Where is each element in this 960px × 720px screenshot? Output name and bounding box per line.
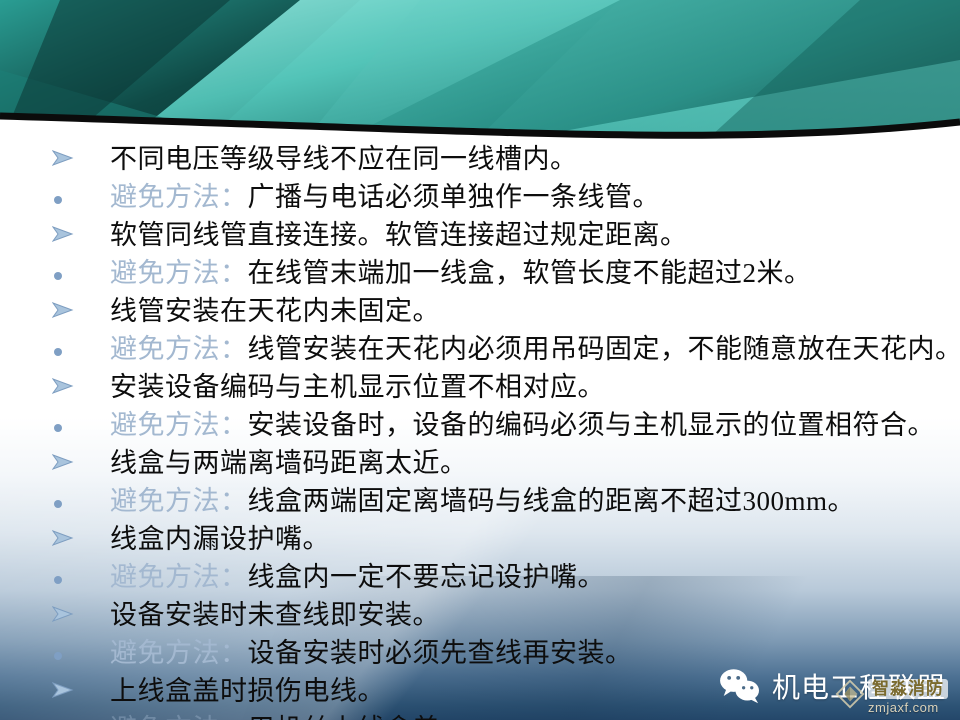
list-item: 避免方法：安装设备时，设备的编码必须与主机显示的位置相符合。 [0,406,960,444]
slide-header-banner [0,0,960,146]
watermark-block: 智淼消防 zmjaxf.com [835,679,948,714]
body-text: 线盒内漏设护嘴。 [110,524,330,554]
diamond-logo-icon [835,679,865,709]
arrow-bullet-icon [52,674,110,698]
dot-bullet-icon [52,260,110,284]
body-text: 安装设备时，设备的编码必须与主机显示的位置相符合。 [248,410,936,440]
body-text: 上线盒盖时损伤电线。 [110,676,385,706]
lead-label: 避免方法： [110,334,248,364]
list-item-text: 设备安装时未查线即安装。 [110,596,440,634]
header-abstract-graphic [0,0,960,146]
list-item: 避免方法：用机丝上线盒盖。 [0,710,960,720]
presentation-slide: 不同电压等级导线不应在同一线槽内。 避免方法：广播与电话必须单独作一条线管。 软… [0,0,960,720]
watermark-url: zmjaxf.com [868,701,948,714]
body-text: 不同电压等级导线不应在同一线槽内。 [110,144,578,174]
list-item: 避免方法：线管安装在天花内必须用吊码固定，不能随意放在天花内。 [0,330,960,368]
list-item-text: 避免方法：线盒内一定不要忘记设护嘴。 [110,558,605,596]
dot-bullet-icon [52,640,110,664]
dot-bullet-icon [52,336,110,360]
list-item-text: 线盒与两端离墙码距离太近。 [110,444,468,482]
body-text: 线盒与两端离墙码距离太近。 [110,448,468,478]
arrow-bullet-icon [52,294,110,318]
list-item-text: 避免方法：在线管末端加一线盒，软管长度不能超过2米。 [110,254,812,292]
list-item: 设备安装时未查线即安装。 [0,596,960,634]
list-item: 线管安装在天花内未固定。 [0,292,960,330]
body-text: 软管同线管直接连接。软管连接超过规定距离。 [110,220,688,250]
list-item-text: 避免方法：线盒两端固定离墙码与线盒的距离不超过300mm。 [110,482,855,520]
lead-label: 避免方法： [110,714,248,720]
arrow-bullet-icon [52,142,110,166]
list-item: 避免方法：线盒两端固定离墙码与线盒的距离不超过300mm。 [0,482,960,520]
dot-bullet-icon [52,564,110,588]
body-text: 设备安装时未查线即安装。 [110,600,440,630]
arrow-bullet-icon [52,370,110,394]
body-text: 线管安装在天花内必须用吊码固定，不能随意放在天花内。 [248,334,960,364]
wechat-icon [718,667,762,705]
arrow-bullet-icon [52,598,110,622]
watermark-title: 智淼消防 [868,679,948,699]
watermark-text: 智淼消防 zmjaxf.com [868,679,948,714]
list-item-text: 线盒内漏设护嘴。 [110,520,330,558]
lead-label: 避免方法： [110,182,248,212]
dot-bullet-icon [52,184,110,208]
arrow-bullet-icon [52,218,110,242]
list-item: 线盒与两端离墙码距离太近。 [0,444,960,482]
list-item-text: 避免方法：广播与电话必须单独作一条线管。 [110,178,660,216]
arrow-bullet-icon [52,522,110,546]
lead-label: 避免方法： [110,638,248,668]
dot-bullet-icon [52,716,110,720]
lead-label: 避免方法： [110,258,248,288]
list-item-text: 避免方法：安装设备时，设备的编码必须与主机显示的位置相符合。 [110,406,935,444]
list-item: 避免方法：广播与电话必须单独作一条线管。 [0,178,960,216]
slide-body-content: 不同电压等级导线不应在同一线槽内。 避免方法：广播与电话必须单独作一条线管。 软… [0,140,960,720]
list-item-text: 软管同线管直接连接。软管连接超过规定距离。 [110,216,688,254]
list-item-text: 不同电压等级导线不应在同一线槽内。 [110,140,578,178]
list-item-text: 线管安装在天花内未固定。 [110,292,440,330]
list-item-text: 避免方法：用机丝上线盒盖。 [110,710,468,720]
body-text: 线盒内一定不要忘记设护嘴。 [248,562,606,592]
body-text: 广播与电话必须单独作一条线管。 [248,182,661,212]
list-item: 避免方法：在线管末端加一线盒，软管长度不能超过2米。 [0,254,960,292]
body-text: 安装设备编码与主机显示位置不相对应。 [110,372,605,402]
list-item: 避免方法：线盒内一定不要忘记设护嘴。 [0,558,960,596]
body-text: 用机丝上线盒盖。 [248,714,468,720]
list-item: 安装设备编码与主机显示位置不相对应。 [0,368,960,406]
body-text: 在线管末端加一线盒，软管长度不能超过2米。 [248,258,812,288]
dot-bullet-icon [52,488,110,512]
list-item-text: 安装设备编码与主机显示位置不相对应。 [110,368,605,406]
list-item: 软管同线管直接连接。软管连接超过规定距离。 [0,216,960,254]
dot-bullet-icon [52,412,110,436]
list-item: 不同电压等级导线不应在同一线槽内。 [0,140,960,178]
body-text: 线盒两端固定离墙码与线盒的距离不超过300mm。 [248,486,856,516]
list-item-text: 避免方法：设备安装时必须先查线再安装。 [110,634,633,672]
list-item-text: 上线盒盖时损伤电线。 [110,672,385,710]
body-text: 设备安装时必须先查线再安装。 [248,638,633,668]
lead-label: 避免方法： [110,486,248,516]
list-item: 线盒内漏设护嘴。 [0,520,960,558]
body-text: 线管安装在天花内未固定。 [110,296,440,326]
lead-label: 避免方法： [110,562,248,592]
list-item-text: 避免方法：线管安装在天花内必须用吊码固定，不能随意放在天花内。 [110,330,960,368]
lead-label: 避免方法： [110,410,248,440]
arrow-bullet-icon [52,446,110,470]
